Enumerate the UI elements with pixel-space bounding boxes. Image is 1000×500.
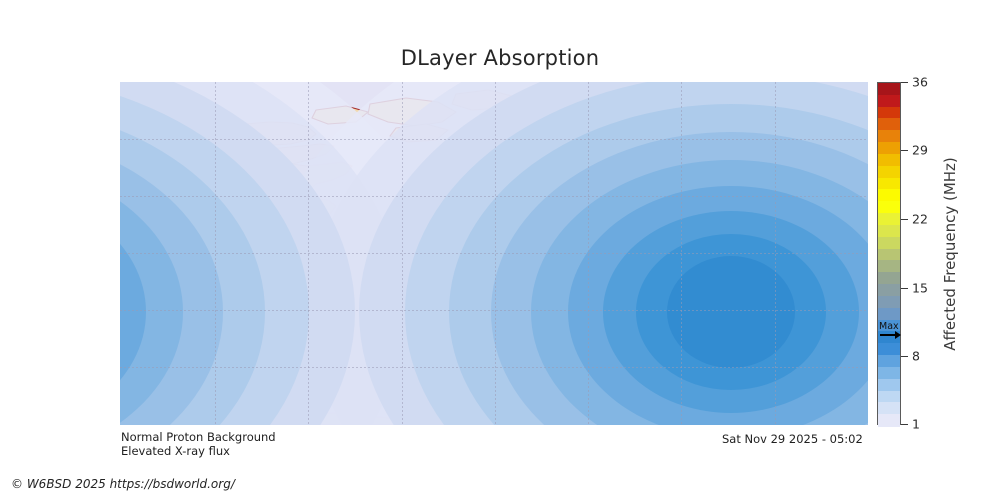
colorbar-band [878,367,900,379]
colorbar-tick-mark [901,150,908,151]
xray-status-text: Elevated X-ray flux [121,444,230,458]
colorbar-tick-mark [901,219,908,220]
colorbar-tick-mark [901,82,908,83]
colorbar-band [878,355,900,367]
colorbar-max-arrow-line [880,334,896,336]
colorbar-band [878,402,900,414]
colorbar-band [878,272,900,284]
colorbar-band [878,296,900,308]
colorbar-band [878,225,900,237]
proton-status-text: Normal Proton Background [121,430,276,444]
colorbar-tick-mark [901,424,908,425]
timestamp-label: Sat Nov 29 2025 - 05:02 [722,432,863,446]
colorbar-tick-label: 29 [912,143,928,158]
colorbar-tick-mark [901,288,908,289]
colorbar-axis-label-text: Affected Frequency (MHz) [941,157,959,351]
colorbar-band [878,213,900,225]
colorbar-band [878,107,900,119]
colorbar-band [878,154,900,166]
coastline-svg [120,82,868,425]
colorbar-band [878,284,900,296]
colorbar-band [878,391,900,403]
colorbar-band [878,308,900,320]
colorbar-band [878,83,900,95]
colorbar-band [878,118,900,130]
figure-root: DLayer Absorption [0,0,1000,500]
colorbar-band [878,249,900,261]
colorbar-band [878,189,900,201]
colorbar-band [878,95,900,107]
colorbar-tick-label: 15 [912,281,928,296]
colorbar-band [878,260,900,272]
land-layer [120,82,868,425]
map-clip [120,82,868,425]
colorbar-axis-label: Affected Frequency (MHz) [938,82,962,425]
colorbar-band [878,343,900,355]
colorbar[interactable]: Max [877,82,901,425]
colorbar-tick-mark [901,356,908,357]
colorbar-band [878,178,900,190]
colorbar-max-arrow-head [895,331,901,339]
colorbar-band [878,379,900,391]
colorbar-gradient: Max [877,82,901,425]
colorbar-tick-label: 8 [912,349,920,364]
colorbar-band [878,201,900,213]
page-title: DLayer Absorption [0,46,1000,70]
colorbar-band [878,414,900,426]
colorbar-tick-label: 22 [912,212,928,227]
world-map[interactable] [120,82,868,425]
colorbar-tick-label: 36 [912,75,928,90]
footer-credit: © W6BSD 2025 https://bsdworld.org/ [11,477,235,491]
colorbar-tick-label: 1 [912,417,920,432]
colorbar-band [878,237,900,249]
colorbar-band [878,142,900,154]
colorbar-band [878,166,900,178]
landmasses [120,90,868,425]
colorbar-band [878,130,900,142]
